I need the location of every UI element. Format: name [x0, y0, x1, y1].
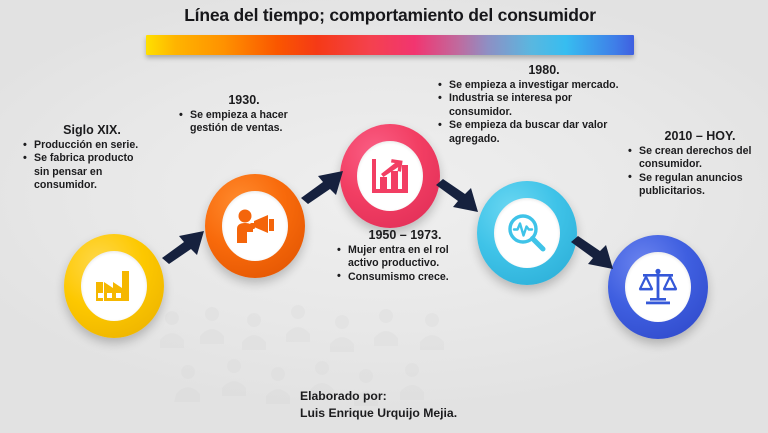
bullet-list: Se empieza a hacer gestión de ventas.	[178, 109, 300, 136]
list-item: Se empieza da buscar dar valor agregado.	[437, 119, 627, 146]
timeline-text-2010-hoy: 2010 – HOY. Se crean derechos del consum…	[627, 129, 761, 199]
list-item: Mujer entra en el rol activo productivo.	[336, 244, 466, 271]
node-icon-wrap	[357, 141, 423, 211]
arrow-right-down-1	[434, 179, 482, 219]
list-item: Se crean derechos del consumidor.	[627, 145, 761, 172]
timeline-text-siglo-xix: Siglo XIX. Producción en serie. Se fabri…	[22, 123, 146, 193]
year-label: 1980.	[437, 63, 627, 77]
timeline-node-2010-hoy[interactable]	[608, 235, 708, 339]
factory-icon	[94, 269, 134, 303]
timeline-text-1950-1973: 1950 – 1973. Mujer entra en el rol activ…	[336, 228, 466, 284]
scales-justice-icon	[638, 268, 678, 306]
timeline-text-1930: 1930. Se empieza a hacer gestión de vent…	[178, 93, 300, 136]
timeline-node-siglo-xix[interactable]	[64, 234, 164, 338]
list-item: Se empieza a hacer gestión de ventas.	[178, 109, 300, 136]
list-item: Se empieza a investigar mercado.	[437, 79, 627, 92]
magnifier-pulse-icon	[507, 213, 547, 253]
bar-chart-growth-icon	[370, 157, 410, 195]
list-item: Producción en serie.	[22, 139, 146, 152]
year-label: 1930.	[178, 93, 300, 107]
credit-line-2: Luis Enrique Urquijo Mejia.	[300, 405, 457, 422]
infographic-canvas: Línea del tiempo; comportamiento del con…	[0, 0, 768, 433]
bullet-list: Se empieza a investigar mercado. Industr…	[437, 79, 627, 146]
timeline-node-1980[interactable]	[477, 181, 577, 285]
bullet-list: Producción en serie. Se fabrica producto…	[22, 139, 146, 193]
arrow-right-up-1	[160, 224, 208, 264]
year-label: 2010 – HOY.	[627, 129, 761, 143]
timeline-text-1980: 1980. Se empieza a investigar mercado. I…	[437, 63, 627, 146]
arrow-right-up-2	[299, 164, 347, 204]
page-title: Línea del tiempo; comportamiento del con…	[140, 5, 640, 26]
gradient-rule	[146, 35, 634, 55]
arrow-right-down-2	[569, 236, 617, 276]
list-item: Consumismo crece.	[336, 271, 466, 284]
bullet-list: Mujer entra en el rol activo productivo.…	[336, 244, 466, 284]
person-megaphone-icon	[234, 207, 276, 245]
year-label: 1950 – 1973.	[336, 228, 466, 242]
timeline-node-1930[interactable]	[205, 174, 305, 278]
author-credit: Elaborado por: Luis Enrique Urquijo Meji…	[300, 388, 457, 422]
list-item: Se regulan anuncios publicitarios.	[627, 172, 761, 199]
node-icon-wrap	[222, 191, 288, 261]
year-label: Siglo XIX.	[22, 123, 146, 137]
list-item: Industria se interesa por consumidor.	[437, 92, 627, 119]
credit-line-1: Elaborado por:	[300, 388, 457, 405]
list-item: Se fabrica producto sin pensar en consum…	[22, 152, 146, 192]
title-banner: Línea del tiempo; comportamiento del con…	[140, 5, 640, 65]
timeline-node-1950-1973[interactable]	[340, 124, 440, 228]
node-icon-wrap	[494, 198, 560, 268]
bullet-list: Se crean derechos del consumidor. Se reg…	[627, 145, 761, 199]
node-icon-wrap	[81, 251, 147, 321]
node-icon-wrap	[625, 252, 691, 322]
